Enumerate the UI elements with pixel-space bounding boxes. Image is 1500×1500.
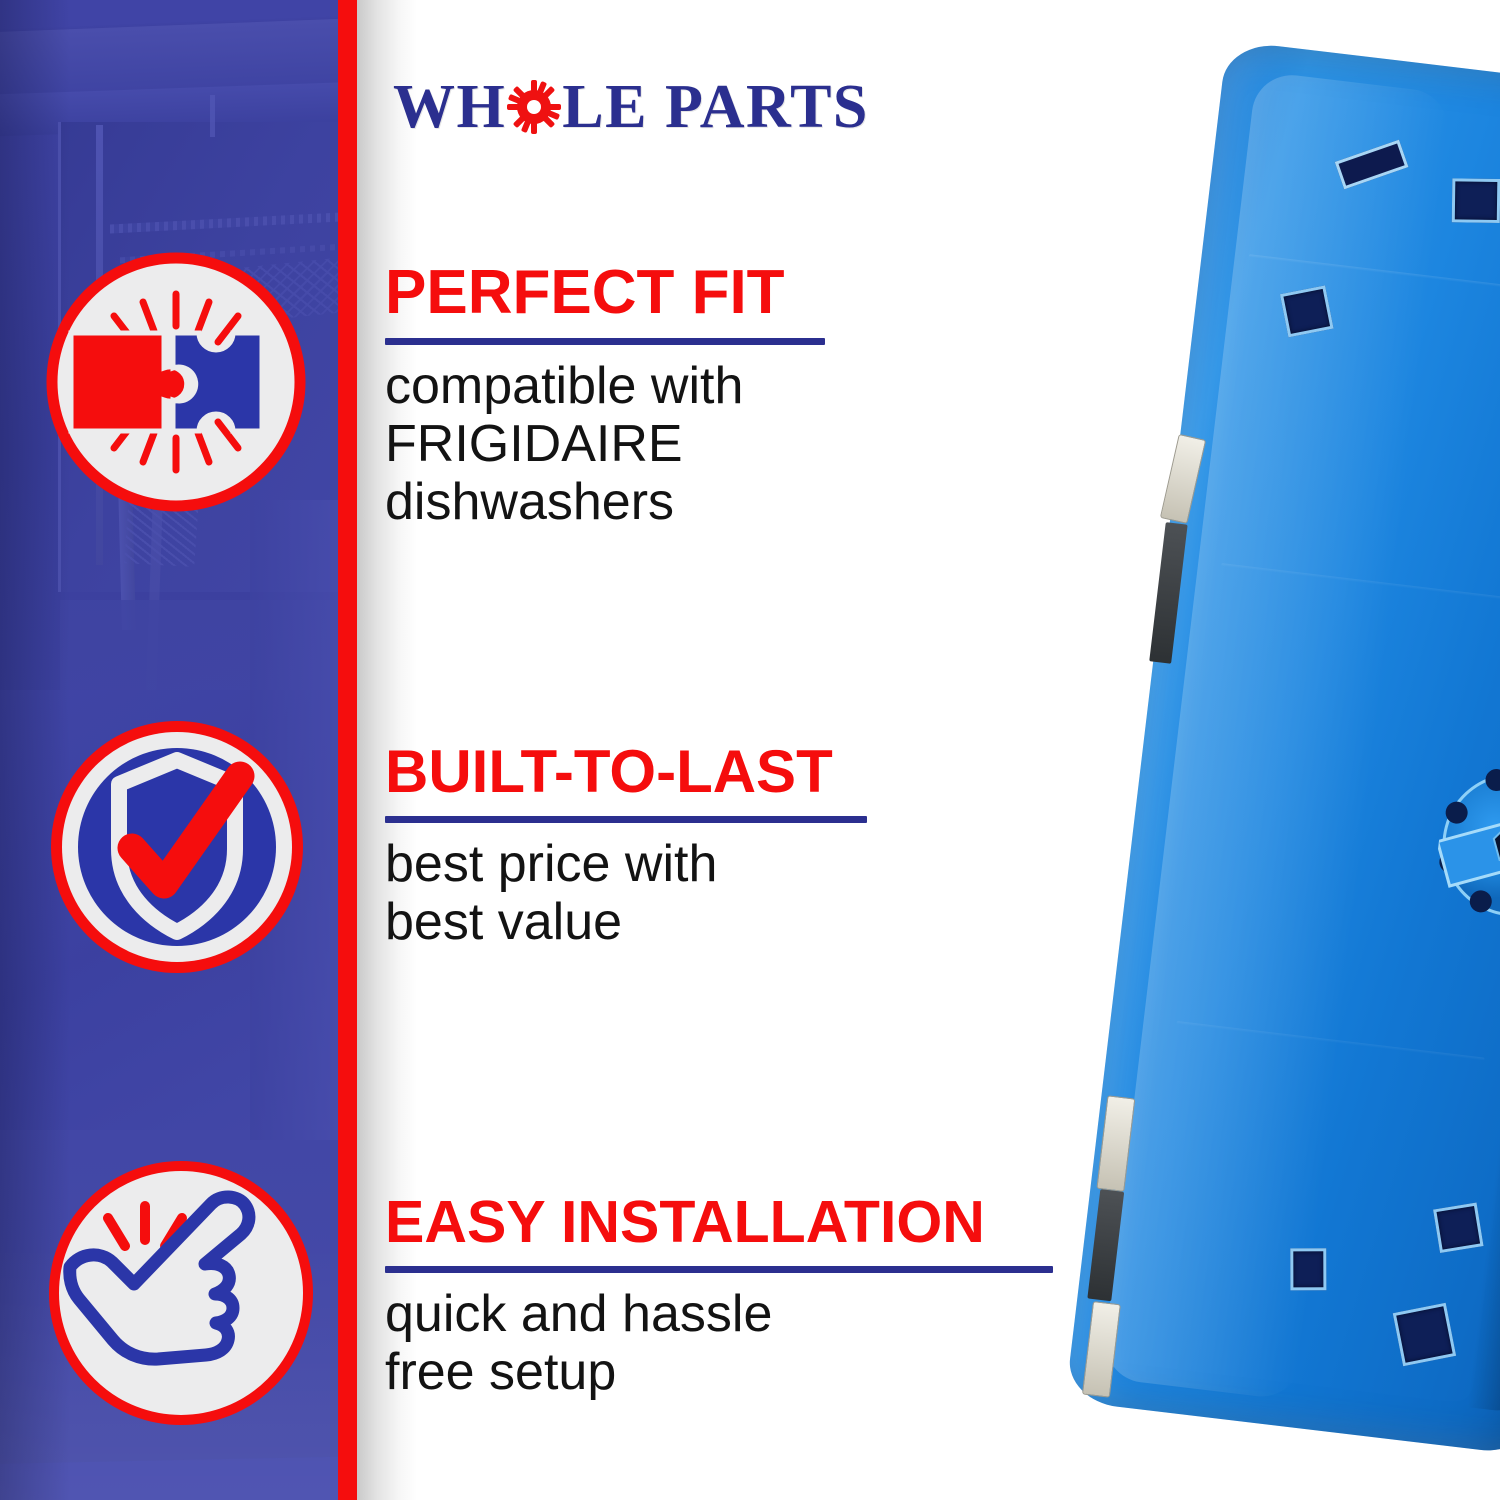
feature-underline <box>385 816 867 823</box>
puzzle-pieces-icon <box>46 252 306 512</box>
feature-underline <box>385 338 825 345</box>
gear-icon <box>507 80 561 134</box>
right-content-area: WH <box>357 0 1500 1500</box>
shield-check-icon <box>46 716 308 978</box>
red-vertical-divider <box>338 0 357 1500</box>
feature-title: PERFECT FIT <box>385 262 825 324</box>
left-photo-panel <box>0 0 338 1500</box>
feature-title: BUILT-TO-LAST <box>385 742 867 802</box>
feature-body: compatible with FRIGIDAIRE dishwashers <box>385 357 825 532</box>
product-photo <box>1117 0 1500 1500</box>
blue-dishwasher-spray-arm-part <box>1065 40 1500 1456</box>
feature-easy-installation: EASY INSTALLATION quick and hassle free … <box>385 1193 1053 1401</box>
feature-underline <box>385 1266 1053 1273</box>
brand-name-part1: WH <box>393 76 506 138</box>
feature-built-to-last: BUILT-TO-LAST best price with best value <box>385 742 867 951</box>
feature-body: quick and hassle free setup <box>385 1285 1053 1401</box>
feature-body: best price with best value <box>385 835 867 951</box>
brand-name-part2: LE PARTS <box>562 76 869 138</box>
feature-perfect-fit: PERFECT FIT compatible with FRIGIDAIRE d… <box>385 262 825 532</box>
product-listing-image: WH <box>0 0 1500 1500</box>
brand-logo: WH <box>393 72 869 142</box>
feature-title: EASY INSTALLATION <box>385 1193 1053 1252</box>
tap-hand-icon <box>48 1160 314 1426</box>
